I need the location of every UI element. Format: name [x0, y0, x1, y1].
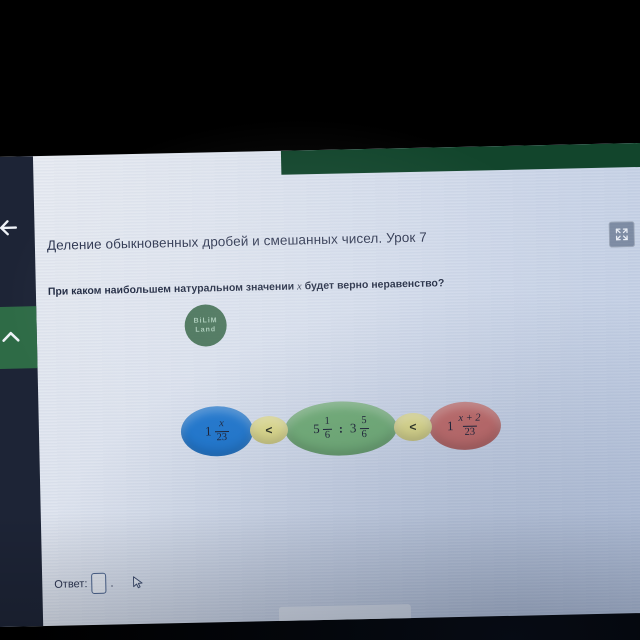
numerator: x — [217, 419, 226, 431]
comparison-operator-2: < — [394, 413, 433, 442]
mixed-number-middle-second: 3 5 6 — [350, 416, 369, 440]
page-title: Деление обыкновенных дробей и смешанных … — [47, 227, 527, 252]
back-button[interactable] — [0, 204, 35, 251]
whole-part: 3 — [350, 420, 357, 436]
question-text: При каком наибольшем натуральном значени… — [48, 274, 608, 298]
chevron-up-icon — [0, 326, 22, 348]
mouse-pointer-icon — [131, 574, 145, 591]
answer-row: Ответ: . — [54, 572, 146, 595]
answer-period: . — [110, 577, 113, 589]
answer-input[interactable] — [91, 573, 106, 594]
answer-label: Ответ: — [54, 578, 87, 591]
mixed-number-middle-first: 5 1 6 — [313, 417, 332, 441]
fullscreen-expand-icon — [615, 227, 629, 241]
scroll-up-button[interactable] — [0, 314, 37, 361]
lesson-page: Деление обыкновенных дробей и смешанных … — [0, 143, 640, 627]
fullscreen-button[interactable] — [609, 221, 636, 248]
mixed-number-left: 1 x 23 — [205, 419, 230, 444]
comparison-operator-1: < — [250, 416, 289, 445]
numerator: 5 — [359, 416, 368, 428]
expression-right-oval: 1 x + 2 23 — [428, 401, 501, 451]
screen-area: Деление обыкновенных дробей и смешанных … — [0, 143, 640, 627]
numerator: x + 2 — [456, 413, 482, 425]
denominator: 6 — [323, 428, 333, 441]
arrow-left-icon — [0, 217, 20, 239]
question-part-1: При каком наибольшем натуральном значени… — [48, 280, 297, 297]
numerator: 1 — [322, 417, 331, 429]
inequality-expression: 1 x 23 < 5 1 6 — [180, 398, 501, 459]
whole-part: 1 — [205, 423, 212, 439]
logo-line-2: Land — [195, 325, 216, 334]
denominator: 6 — [359, 427, 369, 440]
denominator: 23 — [214, 430, 229, 443]
photographed-screen: Деление обыкновенных дробей и смешанных … — [0, 0, 640, 640]
fraction: 5 6 — [359, 416, 369, 440]
fraction: x + 2 23 — [456, 413, 483, 438]
fraction: 1 6 — [322, 417, 332, 441]
whole-part: 5 — [313, 421, 320, 437]
bilimland-logo: BiLiM Land — [184, 304, 227, 347]
division-operator: : — [332, 421, 350, 436]
bottom-panel-tab — [279, 604, 411, 623]
whole-part: 1 — [447, 418, 454, 434]
expression-middle-oval: 5 1 6 : 3 5 6 — [284, 400, 397, 456]
expression-left-oval: 1 x 23 — [180, 405, 253, 457]
mixed-number-right: 1 x + 2 23 — [447, 413, 483, 438]
question-part-2: будет верно неравенство? — [302, 277, 445, 292]
lesson-content: Деление обыкновенных дробей и смешанных … — [33, 143, 640, 626]
fraction: x 23 — [214, 419, 229, 443]
denominator: 23 — [462, 425, 477, 438]
